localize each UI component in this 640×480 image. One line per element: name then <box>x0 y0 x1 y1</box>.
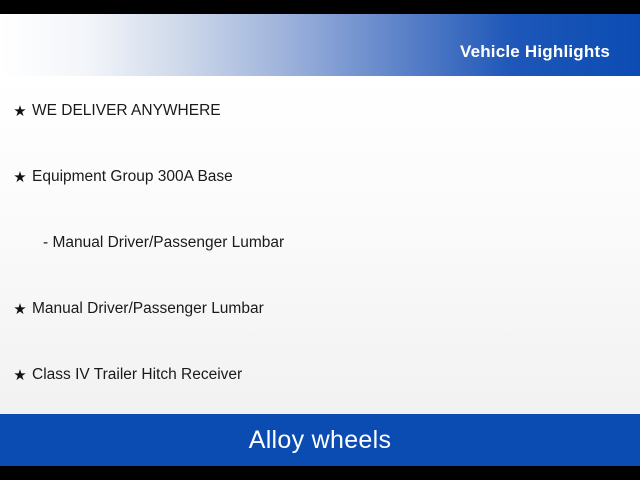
star-icon: ★ <box>8 298 32 321</box>
bullet-list: ★ WE DELIVER ANYWHERE ★ Equipment Group … <box>0 76 640 430</box>
slide-body: ★ WE DELIVER ANYWHERE ★ Equipment Group … <box>0 76 640 424</box>
list-item-label: Manual Driver/Passenger Lumbar <box>32 298 264 320</box>
star-icon: ★ <box>8 364 32 387</box>
list-item: ★ WE DELIVER ANYWHERE <box>0 100 640 166</box>
list-item-label: WE DELIVER ANYWHERE <box>32 100 221 122</box>
list-item-label: Class IV Trailer Hitch Receiver <box>32 364 242 386</box>
list-item-label: Equipment Group 300A Base <box>32 166 233 188</box>
slide-header: Vehicle Highlights <box>0 14 640 76</box>
top-letterbox-bar <box>0 0 640 14</box>
star-icon: ★ <box>8 100 32 123</box>
footer-caption: Alloy wheels <box>249 426 392 455</box>
list-item-label: - Manual Driver/Passenger Lumbar <box>32 232 284 254</box>
star-icon: ★ <box>8 166 32 189</box>
list-item: ★ Equipment Group 300A Base <box>0 166 640 232</box>
list-item: ★ Manual Driver/Passenger Lumbar <box>0 298 640 364</box>
slide: Vehicle Highlights ★ WE DELIVER ANYWHERE… <box>0 0 640 480</box>
slide-footer: Alloy wheels <box>0 414 640 466</box>
list-item-sub: - Manual Driver/Passenger Lumbar <box>0 232 640 298</box>
bottom-letterbox-bar <box>0 466 640 480</box>
page-title: Vehicle Highlights <box>460 42 610 62</box>
